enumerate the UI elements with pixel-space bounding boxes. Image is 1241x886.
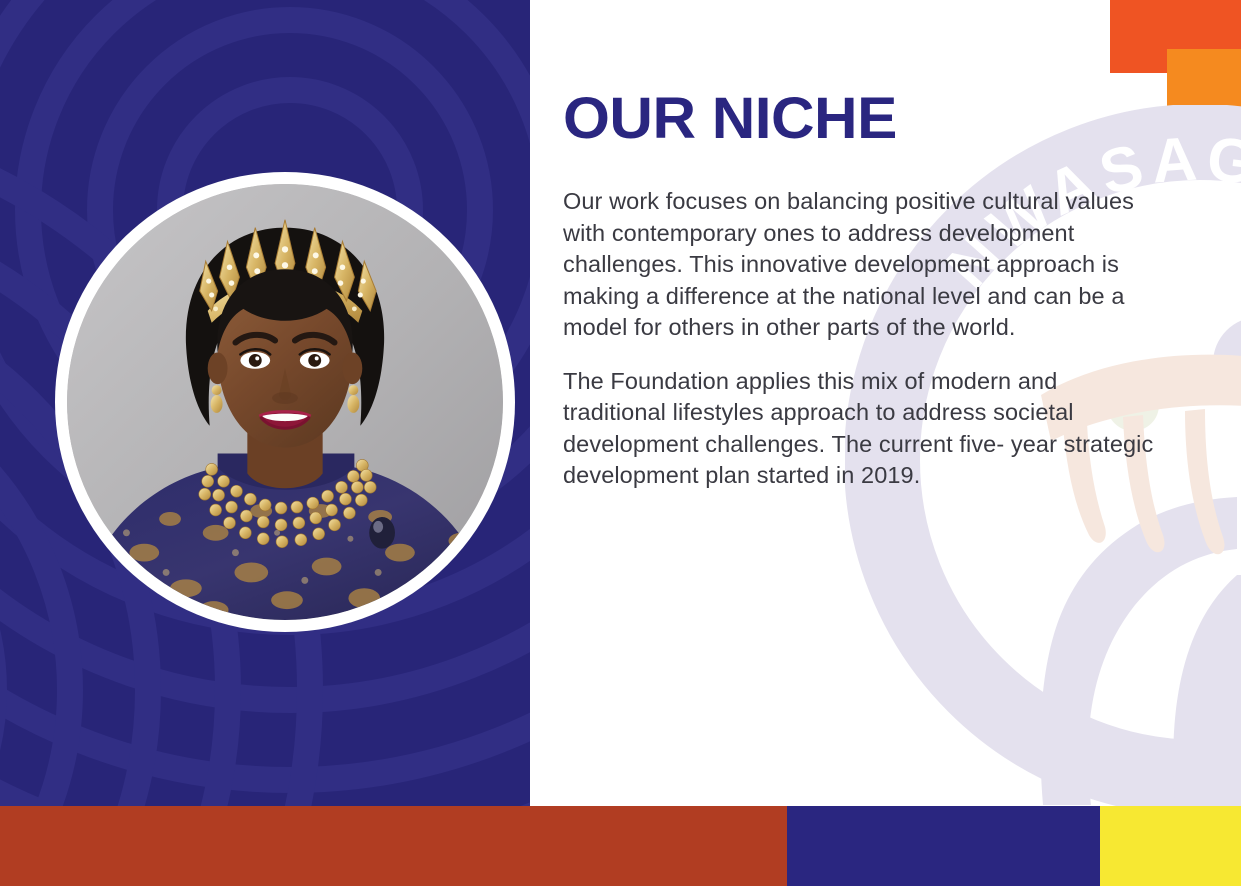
portrait-illustration (67, 184, 503, 620)
bottom-bar-navy-segment (787, 806, 1100, 886)
portrait-image (67, 184, 503, 620)
bottom-bar-rust-segment (0, 806, 787, 886)
portrait-avatar (55, 172, 515, 632)
svg-text:FOUNDATION: FOUNDATION (987, 586, 1241, 734)
slide: NWASAGEREK FOUNDATION (0, 0, 1241, 886)
watermark-bottom-text: FOUNDATION (987, 586, 1241, 734)
page-title: OUR NICHE (563, 0, 1187, 150)
body-paragraph-2: The Foundation applies this mix of moder… (563, 344, 1159, 492)
bottom-bar-yellow-segment (1100, 806, 1241, 886)
body-paragraph-1: Our work focuses on balancing positive c… (563, 150, 1159, 344)
content-column: OUR NICHE Our work focuses on balancing … (563, 0, 1163, 492)
bottom-color-bar (0, 806, 1241, 886)
